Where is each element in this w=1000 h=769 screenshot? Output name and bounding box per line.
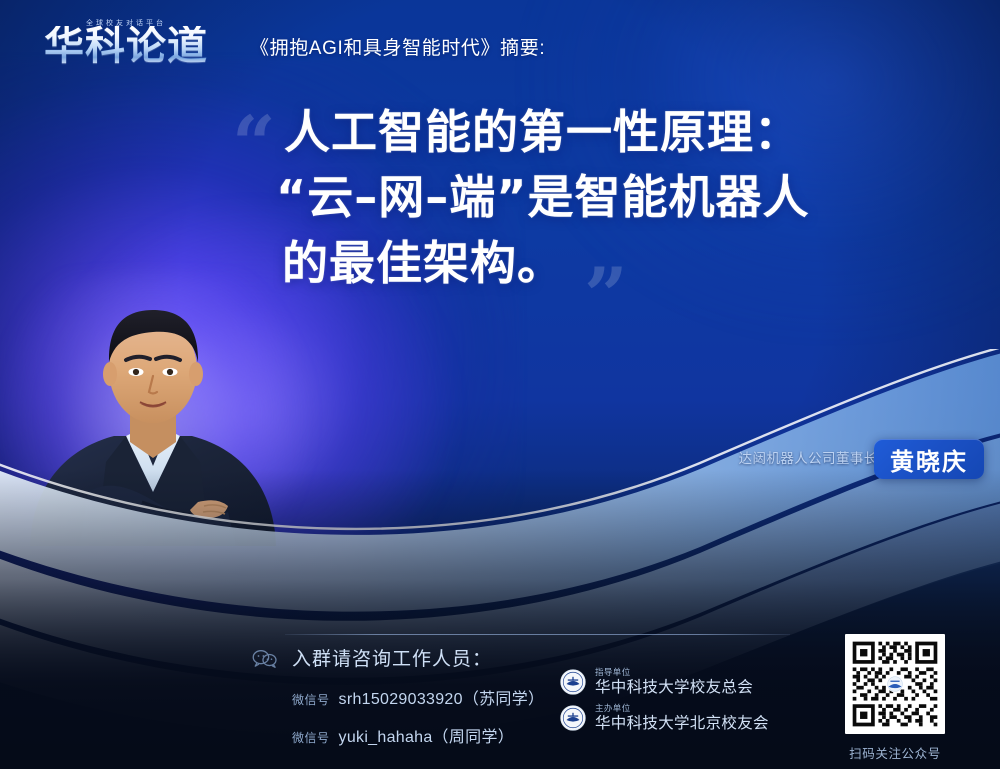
quote-line: 人工智能的第一性原理： <box>284 100 944 165</box>
organization-name: 华中科技大学校友总会 <box>595 680 753 696</box>
speaker-attribution: 达闼机器人公司董事长兼CEO 黄晓庆 <box>739 447 922 467</box>
organization-kind: 主办单位 <box>595 704 769 713</box>
contact-value: yuki_hahaha（周同学） <box>339 723 515 747</box>
organization-name: 华中科技大学北京校友会 <box>595 716 769 732</box>
wechat-icon <box>252 648 278 668</box>
page-title: 《拥抱AGI和具身智能时代》摘要: <box>250 33 545 60</box>
speaker-name-badge: 黄晓庆 <box>874 439 984 479</box>
contact-value: srh15029033920（苏同学） <box>339 685 545 709</box>
organization-text: 主办单位 华中科技大学北京校友会 <box>595 704 769 731</box>
poster-header: 全球校友对话平台 华科论道 《拥抱AGI和具身智能时代》摘要: <box>0 0 1000 92</box>
qr-caption: 扫码关注公众号 <box>839 743 951 762</box>
organization-text: 指导单位 华中科技大学校友总会 <box>595 668 753 695</box>
footer-divider <box>285 634 790 635</box>
brand-logo: 全球校友对话平台 华科论道 <box>28 16 224 78</box>
organization-item: 主办单位 华中科技大学北京校友会 <box>560 704 769 731</box>
hust-seal-icon <box>560 669 586 695</box>
hust-seal-icon <box>560 705 586 731</box>
footer-heading-row: 入群请咨询工作人员： <box>252 644 812 671</box>
contact-label: 微信号 <box>292 729 330 746</box>
organization-kind: 指导单位 <box>595 668 753 677</box>
poster-root: 全球校友对话平台 华科论道 《拥抱AGI和具身智能时代》摘要: “ 人工智能的第… <box>0 0 1000 769</box>
organization-list: 指导单位 华中科技大学校友总会 主办单位 华中科技大学北京校友会 <box>560 668 769 740</box>
qr-block: 扫码关注公众号 <box>839 634 951 762</box>
quote-open-mark: “ <box>232 106 276 182</box>
quote-block: “ 人工智能的第一性原理： “云–网–端”是智能机器人 的最佳架构。 ” <box>232 100 952 350</box>
qr-code[interactable] <box>845 634 945 734</box>
quote-line: “云–网–端”是智能机器人 <box>276 165 944 230</box>
contact-label: 微信号 <box>292 691 330 708</box>
quote-close-mark: ” <box>584 258 628 334</box>
qr-code-image <box>849 638 941 730</box>
brand-name: 华科论道 <box>28 26 224 66</box>
organization-item: 指导单位 华中科技大学校友总会 <box>560 668 769 695</box>
footer-heading: 入群请咨询工作人员： <box>292 644 492 671</box>
